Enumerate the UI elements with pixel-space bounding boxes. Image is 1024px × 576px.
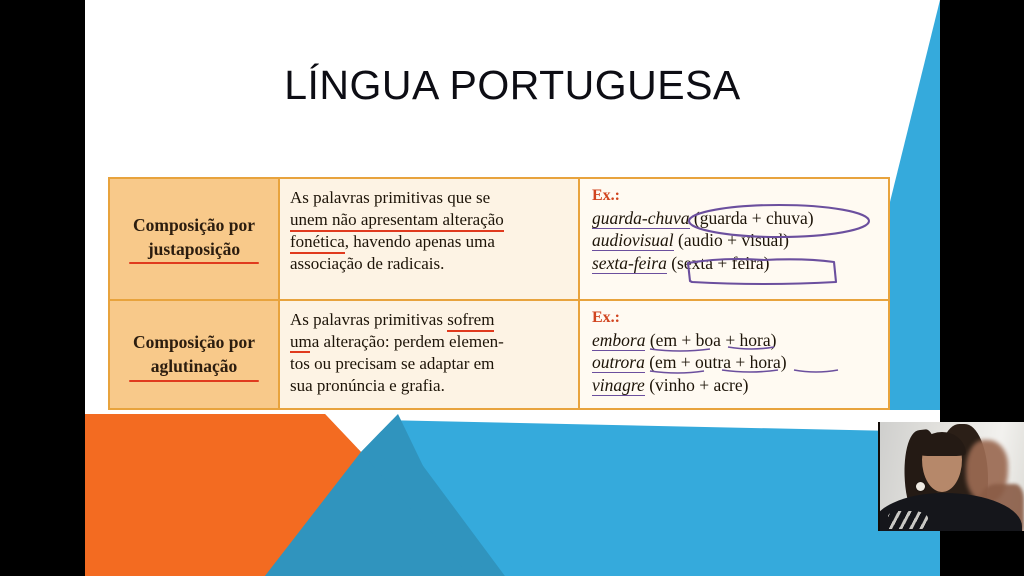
grammar-table: Plataforma de Ensino PLUSMAQ PROFESSOR L… [108,177,890,410]
red-underline [129,380,259,382]
presentation-slide: LÍNGUA PORTUGUESA [85,0,940,576]
definition-line-3: tos ou precisam se adaptar em [290,353,568,375]
term-line-1: Composição por [133,214,255,238]
presenter-clothing-pattern [888,511,928,529]
definition-cell-aglutinacao: As palavras primitivas sofrem uma altera… [280,301,580,410]
examples-cell-justaposicao: Ex.: guarda-chuva (guarda + chuva) audio… [580,179,888,299]
table-row: Composição por aglutinação As palavras p… [110,299,888,410]
definition-line-3: fonética, havendo apenas uma [290,231,568,253]
table-row: Composição por justaposição As palavras … [110,179,888,299]
definition-line-1: As palavras primitivas que se [290,187,568,209]
definition-line-2: unem não apresentam alteração [290,209,568,231]
example-item: vinagre (vinho + acre) [592,374,878,397]
definition-cell-justaposicao: As palavras primitivas que se unem não a… [280,179,580,299]
red-underline [129,262,259,264]
example-item: audiovisual (audio + visual) [592,229,878,252]
definition-line-4: associação de radicais. [290,253,568,275]
example-item: sexta-feira (sexta + feira) [592,252,878,275]
term-line-2: aglutinação [129,355,259,382]
examples-label: Ex.: [592,187,878,205]
presenter-video[interactable] [878,422,1024,531]
term-line-1: Composição por [133,331,255,355]
examples-cell-aglutinacao: Ex.: embora (em + boa + hora) outrora (e… [580,301,888,410]
term-line-2: justaposição [129,238,259,265]
definition-line-2: uma alteração: perdem elemen- [290,331,568,353]
term-cell-justaposicao: Composição por justaposição [110,179,280,299]
example-item: outrora (em + outra + hora) [592,351,878,374]
screen-capture: LÍNGUA PORTUGUESA [0,0,1024,576]
presenter-earring [916,482,925,491]
example-item: guarda-chuva (guarda + chuva) [592,207,878,230]
examples-label: Ex.: [592,309,878,327]
definition-line-4: sua pronúncia e grafia. [290,375,568,397]
term-cell-aglutinacao: Composição por aglutinação [110,301,280,410]
example-item: embora (em + boa + hora) [592,329,878,352]
slide-title: LÍNGUA PORTUGUESA [85,62,940,109]
definition-line-1: As palavras primitivas sofrem [290,309,568,331]
